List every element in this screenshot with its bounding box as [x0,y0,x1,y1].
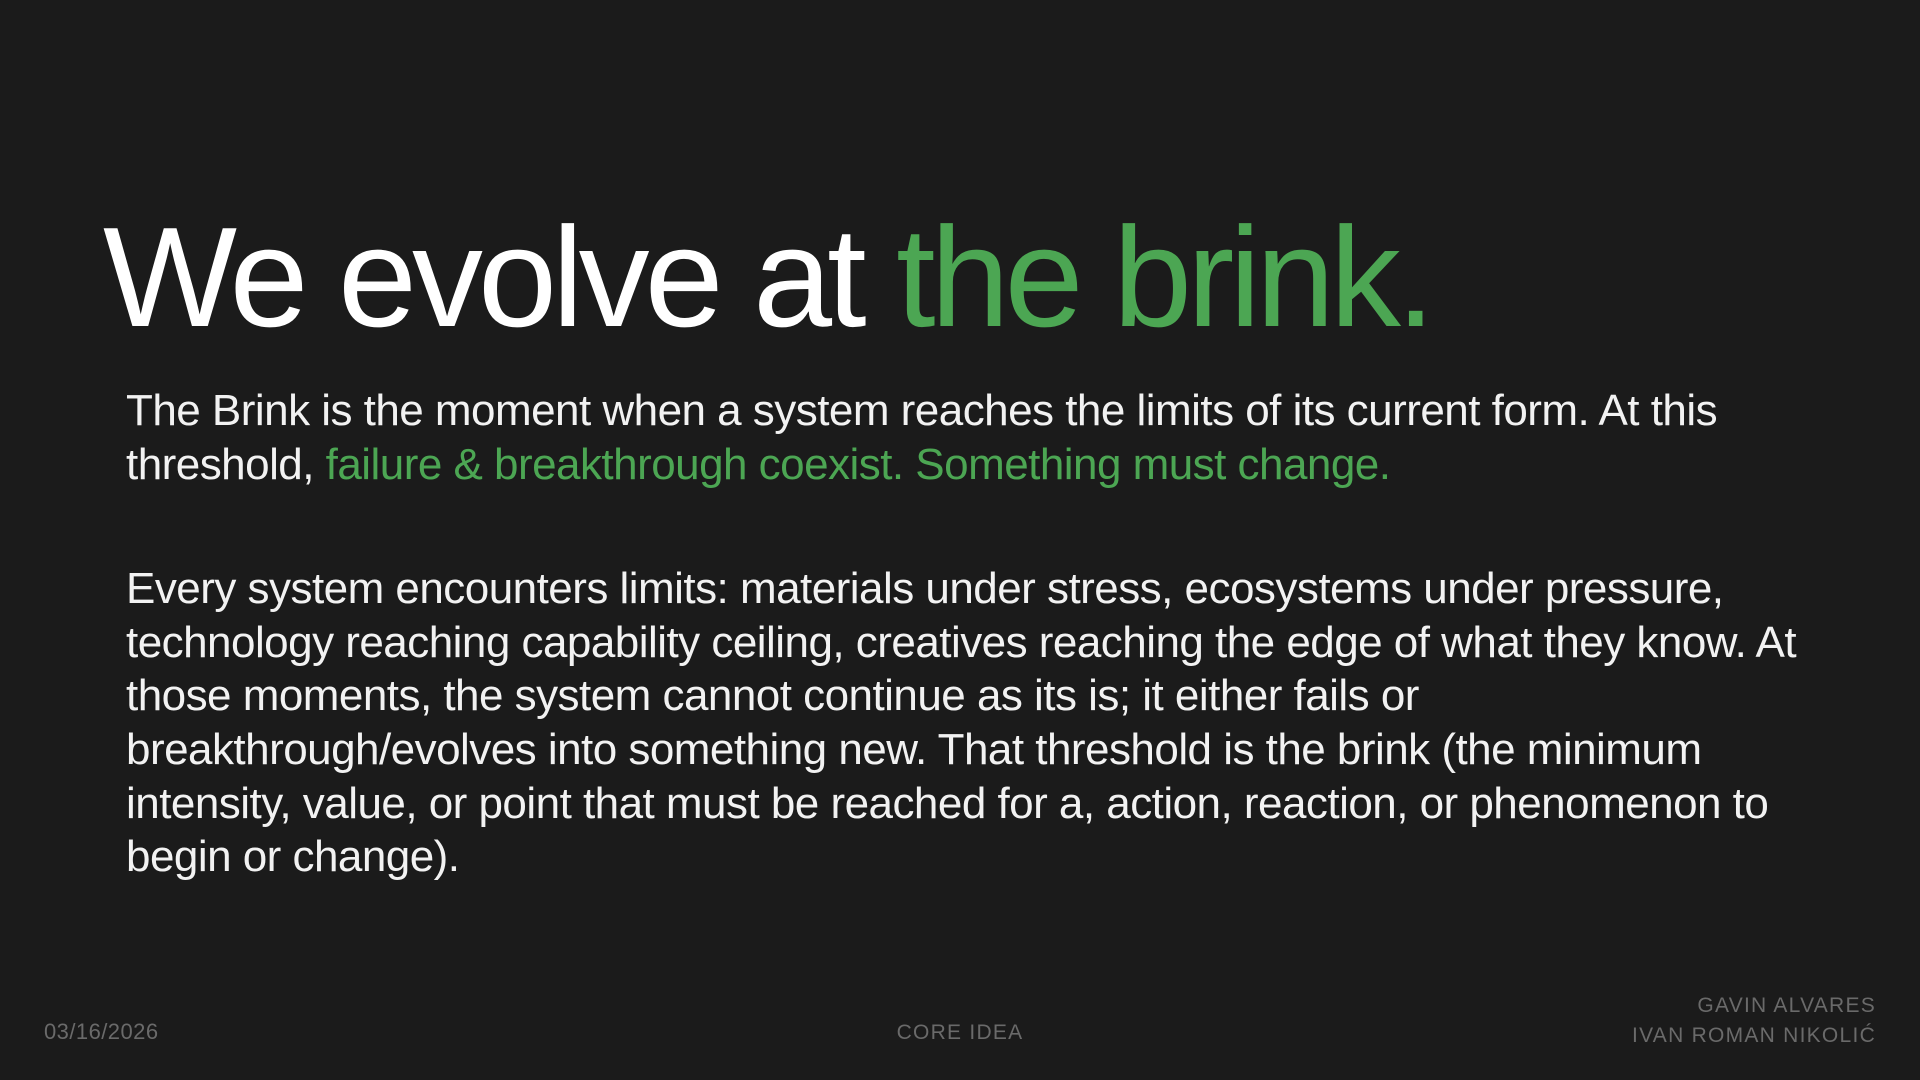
body-paragraph-1: The Brink is the moment when a system re… [126,384,1806,491]
footer-credits: GAVIN ALVARES IVAN ROMAN NIKOLIĆ [1632,991,1876,1052]
body-paragraph-2: Every system encounters limits: material… [126,562,1806,884]
footer-credit-primary: GAVIN ALVARES [1632,991,1876,1021]
headline-accent-part: the brink. [896,198,1430,357]
headline-white-part: We evolve at [103,198,896,357]
page-title: We evolve at the brink. [103,207,1843,349]
footer-credit-secondary: IVAN ROMAN NIKOLIĆ [1632,1021,1876,1051]
paragraph-1-accent-text: failure & breakthrough coexist. Somethin… [326,440,1391,489]
paragraph-2-text: Every system encounters limits: material… [126,564,1796,881]
footer: 03/16/2026 CORE IDEA GAVIN ALVARES IVAN … [0,975,1920,1080]
slide-canvas: We evolve at the brink. The Brink is the… [0,0,1920,1080]
